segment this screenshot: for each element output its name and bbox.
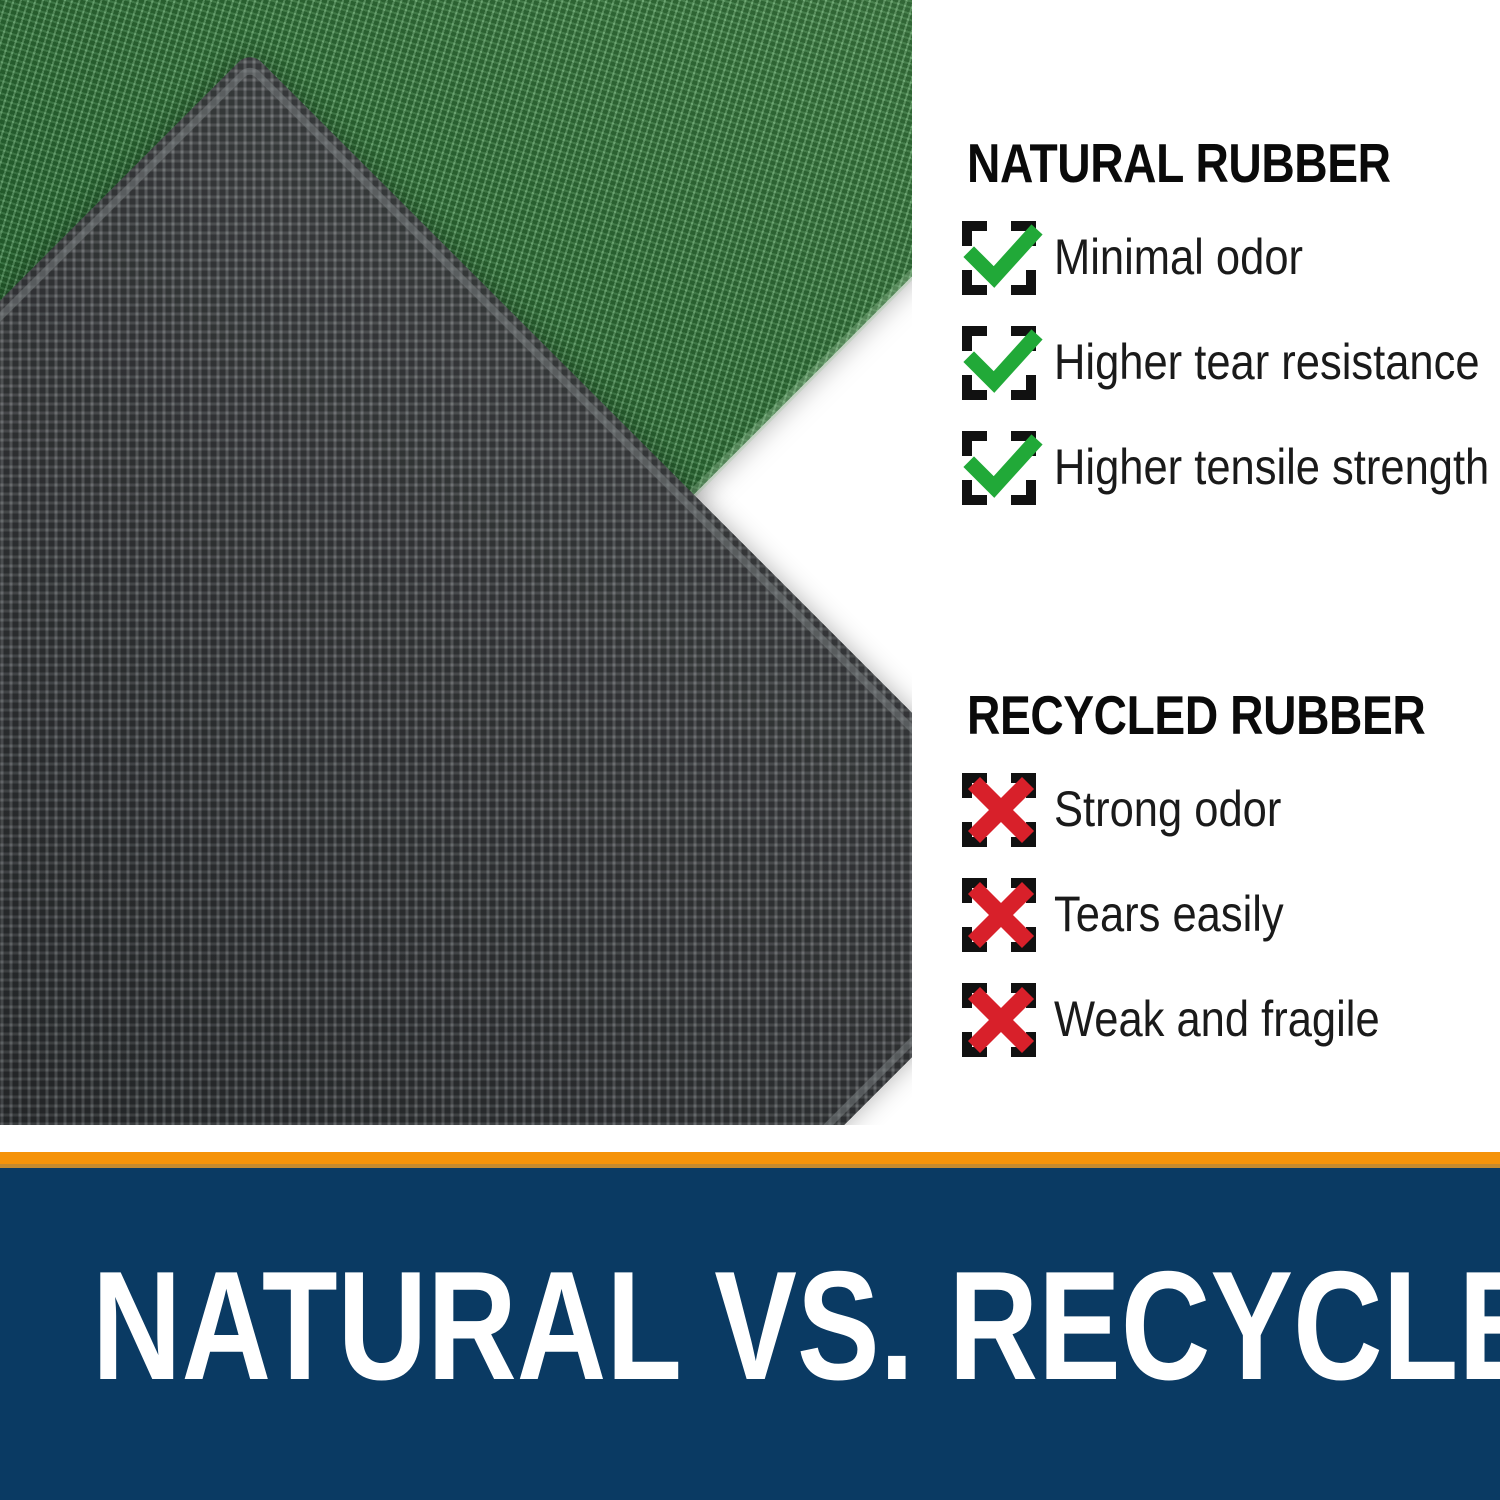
- check-icon: [962, 326, 1036, 400]
- heading-natural-rubber: NATURAL RUBBER: [967, 136, 1415, 191]
- list-item: Minimal odor: [940, 205, 1500, 310]
- feature-panel: NATURAL RUBBER Minimal odor: [940, 0, 1500, 1152]
- list-item: Weak and fragile: [940, 967, 1500, 1072]
- feature-label: Minimal odor: [1054, 231, 1303, 284]
- heading-recycled-rubber: RECYCLED RUBBER: [967, 688, 1415, 743]
- feature-list-natural: Minimal odor Higher tear resista: [940, 205, 1500, 520]
- cross-glyph-icon: [960, 979, 1044, 1063]
- bottom-banner: NATURAL VS. RECYCLED: [0, 1152, 1500, 1500]
- check-icon: [962, 221, 1036, 295]
- list-item: Tears easily: [940, 862, 1500, 967]
- banner-title: NATURAL VS. RECYCLED: [92, 1248, 1500, 1403]
- checkmark-glyph-icon: [960, 217, 1044, 301]
- feature-label: Higher tear resistance: [1054, 336, 1480, 389]
- cross-icon: [962, 878, 1036, 952]
- cross-glyph-icon: [960, 769, 1044, 853]
- feature-list-recycled: Strong odor Tears easily: [940, 757, 1500, 1072]
- checkmark-glyph-icon: [960, 427, 1044, 511]
- list-item: Strong odor: [940, 757, 1500, 862]
- check-icon: [962, 431, 1036, 505]
- cross-glyph-icon: [960, 874, 1044, 958]
- feature-label: Weak and fragile: [1054, 993, 1380, 1046]
- feature-block-natural: NATURAL RUBBER Minimal odor: [940, 136, 1500, 520]
- product-photo: [0, 0, 912, 1125]
- list-item: Higher tear resistance: [940, 310, 1500, 415]
- feature-label: Strong odor: [1054, 783, 1281, 836]
- banner-accent-stripe: [0, 1152, 1500, 1168]
- feature-label: Tears easily: [1054, 888, 1284, 941]
- cross-icon: [962, 773, 1036, 847]
- top-area: NATURAL RUBBER Minimal odor: [0, 0, 1500, 1152]
- checkmark-glyph-icon: [960, 322, 1044, 406]
- list-item: Higher tensile strength: [940, 415, 1500, 520]
- feature-block-recycled: RECYCLED RUBBER Strong odor: [940, 688, 1500, 1072]
- cross-icon: [962, 983, 1036, 1057]
- infographic-page: NATURAL RUBBER Minimal odor: [0, 0, 1500, 1500]
- feature-label: Higher tensile strength: [1054, 441, 1489, 494]
